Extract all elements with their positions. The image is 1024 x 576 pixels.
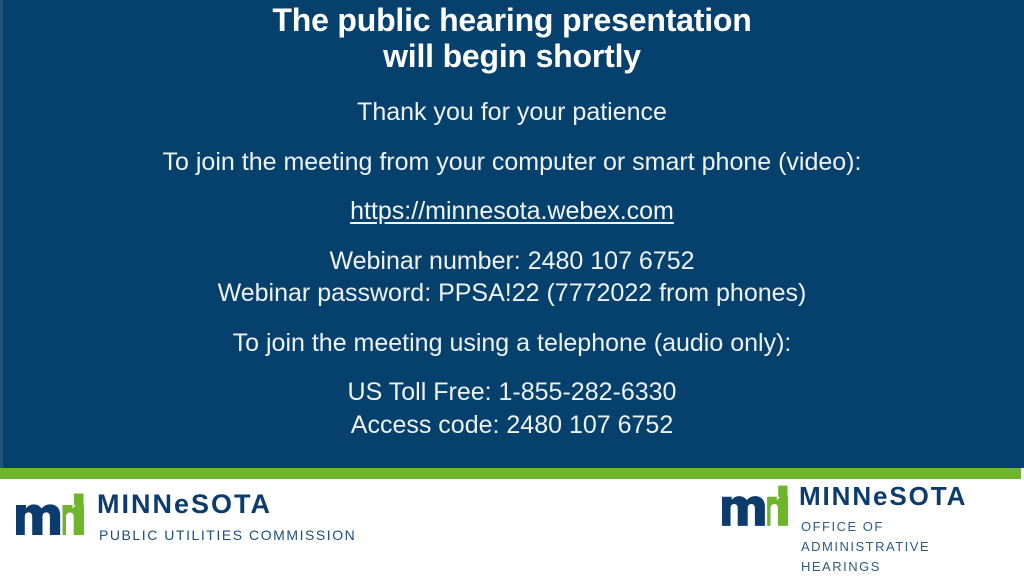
oah-agency-line-1: OFFICE OF	[801, 517, 967, 537]
access-code: Access code: 2480 107 6752	[0, 409, 1024, 442]
presentation-slide: The public hearing presentation will beg…	[0, 0, 1024, 576]
slide-body: Thank you for your patience To join the …	[0, 96, 1024, 441]
minnesota-wordmark-post: SOTA	[889, 481, 967, 511]
oah-agency-lines: OFFICE OF ADMINISTRATIVE HEARINGS	[801, 517, 967, 576]
minnesota-wordmark-e: e	[873, 481, 889, 511]
oah-agency-line-2: ADMINISTRATIVE	[801, 537, 967, 557]
minnesota-wordmark-pre: MINN	[799, 481, 873, 511]
join-video-instruction: To join the meeting from your computer o…	[0, 146, 1024, 179]
slide-title-line-1: The public hearing presentation	[0, 2, 1024, 38]
webinar-password: Webinar password: PPSA!22 (7772022 from …	[0, 277, 1024, 310]
oah-logo-lockup: MINNeSOTA OFFICE OF ADMINISTRATIVE HEARI…	[722, 483, 967, 576]
thanks-text: Thank you for your patience	[0, 96, 1024, 129]
slide-footer: MINNeSOTA PUBLIC UTILITIES COMMISSION MI…	[0, 479, 1024, 576]
phone-details: US Toll Free: 1-855-282-6330 Access code…	[0, 376, 1024, 441]
webinar-number: Webinar number: 2480 107 6752	[0, 245, 1024, 278]
slide-title-line-2: will begin shortly	[0, 38, 1024, 74]
minnesota-wordmark-post: SOTA	[191, 489, 272, 519]
minnesota-wordmark-pre: MINN	[97, 489, 174, 519]
webinar-credentials: Webinar number: 2480 107 6752 Webinar pa…	[0, 245, 1024, 310]
minnesota-wordmark-e: e	[174, 489, 191, 519]
mn-logo-icon	[16, 493, 84, 535]
minnesota-wordmark: MINNeSOTA	[97, 491, 356, 518]
toll-free-number: US Toll Free: 1-855-282-6330	[0, 376, 1024, 409]
puc-wordmark-column: MINNeSOTA PUBLIC UTILITIES COMMISSION	[97, 491, 356, 542]
puc-logo-lockup: MINNeSOTA PUBLIC UTILITIES COMMISSION	[16, 491, 356, 542]
webex-link-paragraph: https://minnesota.webex.com	[0, 195, 1024, 228]
join-audio-instruction: To join the meeting using a telephone (a…	[0, 327, 1024, 360]
minnesota-wordmark: MINNeSOTA	[799, 483, 967, 509]
mn-logo-icon	[722, 485, 788, 526]
webex-link[interactable]: https://minnesota.webex.com	[350, 197, 674, 225]
oah-wordmark-column: MINNeSOTA OFFICE OF ADMINISTRATIVE HEARI…	[799, 483, 967, 576]
slide-title: The public hearing presentation will beg…	[0, 2, 1024, 75]
oah-agency-line-3: HEARINGS	[801, 557, 967, 576]
puc-tagline: PUBLIC UTILITIES COMMISSION	[99, 528, 356, 542]
green-divider-bar	[0, 468, 1021, 479]
